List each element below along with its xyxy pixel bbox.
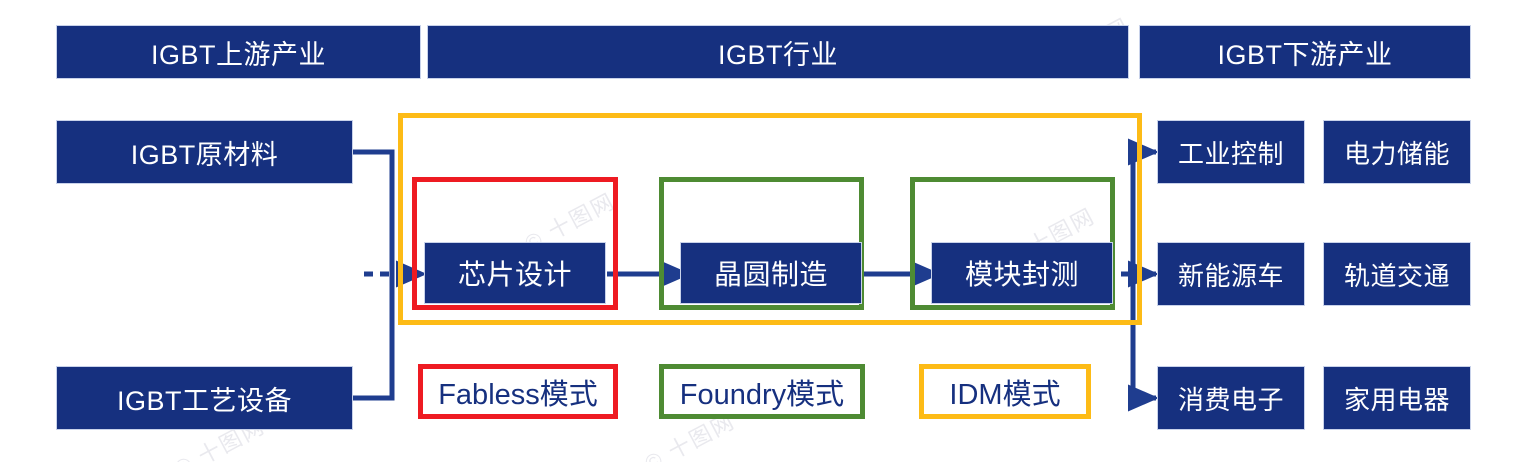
upstream-item-raw-material[interactable]: IGBT原材料: [57, 121, 352, 183]
legend-item-fabless[interactable]: Fabless模式: [418, 364, 618, 419]
downstream-item-consumer-electronics[interactable]: 消费电子: [1158, 367, 1304, 429]
downstream-item-industrial-control-label: 工业控制: [1178, 134, 1284, 171]
downstream-item-rail-transit-label: 轨道交通: [1344, 256, 1450, 293]
header-downstream: IGBT下游产业: [1140, 26, 1470, 78]
downstream-item-power-storage[interactable]: 电力储能: [1324, 121, 1470, 183]
downstream-item-rail-transit[interactable]: 轨道交通: [1324, 243, 1470, 305]
downstream-item-new-energy-vehicle[interactable]: 新能源车: [1158, 243, 1304, 305]
legend-item-idm-label: IDM模式: [949, 371, 1060, 413]
legend-item-foundry[interactable]: Foundry模式: [659, 364, 865, 419]
upstream-item-raw-material-label: IGBT原材料: [131, 133, 279, 172]
header-industry: IGBT行业: [428, 26, 1128, 78]
igbt-industry-chain-diagram: © 十图网 © 十图网 © 十图网 © 十图网 © 十图网 IGBT上游产业 I…: [0, 0, 1526, 462]
legend-item-fabless-label: Fabless模式: [438, 371, 598, 413]
legend-item-foundry-label: Foundry模式: [680, 371, 844, 413]
header-upstream-label: IGBT上游产业: [151, 33, 326, 72]
process-step-chip-design[interactable]: 芯片设计: [425, 243, 605, 303]
downstream-item-home-appliance[interactable]: 家用电器: [1324, 367, 1470, 429]
downstream-item-power-storage-label: 电力储能: [1344, 134, 1450, 171]
header-industry-label: IGBT行业: [718, 33, 838, 72]
header-downstream-label: IGBT下游产业: [1217, 33, 1392, 72]
header-upstream: IGBT上游产业: [57, 26, 420, 78]
downstream-item-home-appliance-label: 家用电器: [1344, 380, 1450, 417]
downstream-item-industrial-control[interactable]: 工业控制: [1158, 121, 1304, 183]
process-step-wafer-manufacture[interactable]: 晶圆制造: [681, 243, 861, 303]
upstream-item-process-equipment[interactable]: IGBT工艺设备: [57, 367, 352, 429]
process-step-module-packaging-label: 模块封测: [965, 253, 1079, 293]
process-step-module-packaging[interactable]: 模块封测: [932, 243, 1112, 303]
downstream-item-consumer-electronics-label: 消费电子: [1178, 380, 1284, 417]
process-step-wafer-manufacture-label: 晶圆制造: [714, 253, 828, 293]
process-step-chip-design-label: 芯片设计: [458, 253, 572, 293]
downstream-item-new-energy-vehicle-label: 新能源车: [1178, 256, 1284, 293]
legend-item-idm[interactable]: IDM模式: [919, 364, 1091, 419]
upstream-item-process-equipment-label: IGBT工艺设备: [117, 379, 292, 418]
